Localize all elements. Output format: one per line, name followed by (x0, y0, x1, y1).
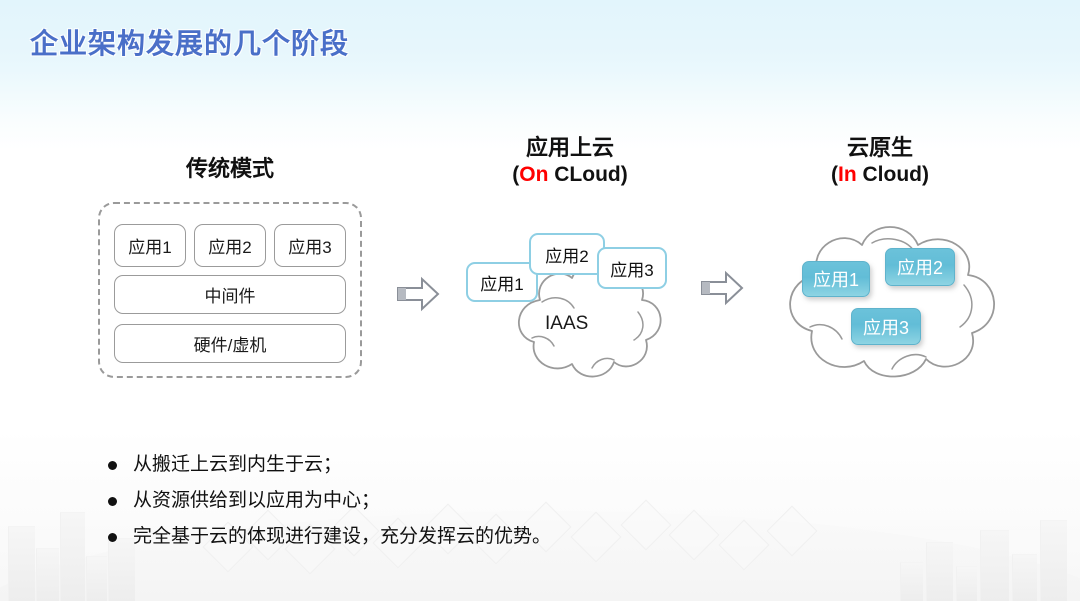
traditional-app-3[interactable]: 应用3 (274, 224, 346, 267)
bullet-list: 从搬迁上云到内生于云； 从资源供给到以应用为中心； 完全基于云的体现进行建设，充… (108, 452, 808, 560)
section-heading-traditional: 传统模式 (118, 155, 342, 182)
iaas-cloud-label: IAAS (545, 313, 588, 335)
on-cloud-app-2[interactable]: 应用2 (529, 233, 605, 275)
arrow-right-icon-1 (396, 276, 440, 312)
paren-close: ) (621, 163, 628, 186)
section-heading-on-cloud-text: 应用上云 (460, 134, 680, 161)
traditional-hardware[interactable]: 硬件/虚机 (114, 324, 346, 363)
arrow-right-icon-2 (700, 270, 744, 306)
on-cloud-app-1[interactable]: 应用1 (466, 262, 538, 302)
bullet-dot-icon (108, 533, 117, 542)
on-cloud-app-3[interactable]: 应用3 (597, 247, 667, 289)
in-keyword: In (838, 163, 857, 186)
traditional-app-2[interactable]: 应用2 (194, 224, 266, 267)
section-heading-on-cloud: 应用上云 (On CLoud) (460, 134, 680, 188)
paren-open: ( (831, 163, 838, 186)
cloud-keyword: CLoud (548, 163, 620, 186)
list-item: 从搬迁上云到内生于云； (108, 452, 808, 478)
cloud-native-app-1[interactable]: 应用1 (802, 261, 870, 297)
traditional-app-1[interactable]: 应用1 (114, 224, 186, 267)
bullet-text-3: 完全基于云的体现进行建设，充分发挥云的优势。 (133, 524, 551, 550)
cloud-native-app-2[interactable]: 应用2 (885, 248, 955, 286)
slide-canvas: 企业架构发展的几个阶段 传统模式 应用1 应用2 应用3 中间件 硬件/虚机 应… (0, 0, 1080, 601)
section-heading-cloud-native-text: 云原生 (770, 134, 990, 161)
section-subheading-cloud-native: (In Cloud) (770, 161, 990, 188)
list-item: 完全基于云的体现进行建设，充分发挥云的优势。 (108, 524, 808, 550)
bullet-dot-icon (108, 461, 117, 470)
cloud-native-app-3[interactable]: 应用3 (851, 308, 921, 345)
page-title: 企业架构发展的几个阶段 (30, 22, 349, 62)
section-heading-cloud-native: 云原生 (In Cloud) (770, 134, 990, 188)
traditional-middleware[interactable]: 中间件 (114, 275, 346, 314)
section-heading-traditional-text: 传统模式 (118, 155, 342, 182)
cloud-keyword: Cloud (857, 163, 922, 186)
section-subheading-on-cloud: (On CLoud) (460, 161, 680, 188)
bullet-text-1: 从搬迁上云到内生于云； (133, 452, 342, 478)
bullet-text-2: 从资源供给到以应用为中心； (133, 488, 380, 514)
on-keyword: On (519, 163, 548, 186)
paren-close: ) (922, 163, 929, 186)
list-item: 从资源供给到以应用为中心； (108, 488, 808, 514)
cloud-native-cloud-shape (760, 215, 1010, 385)
bullet-dot-icon (108, 497, 117, 506)
